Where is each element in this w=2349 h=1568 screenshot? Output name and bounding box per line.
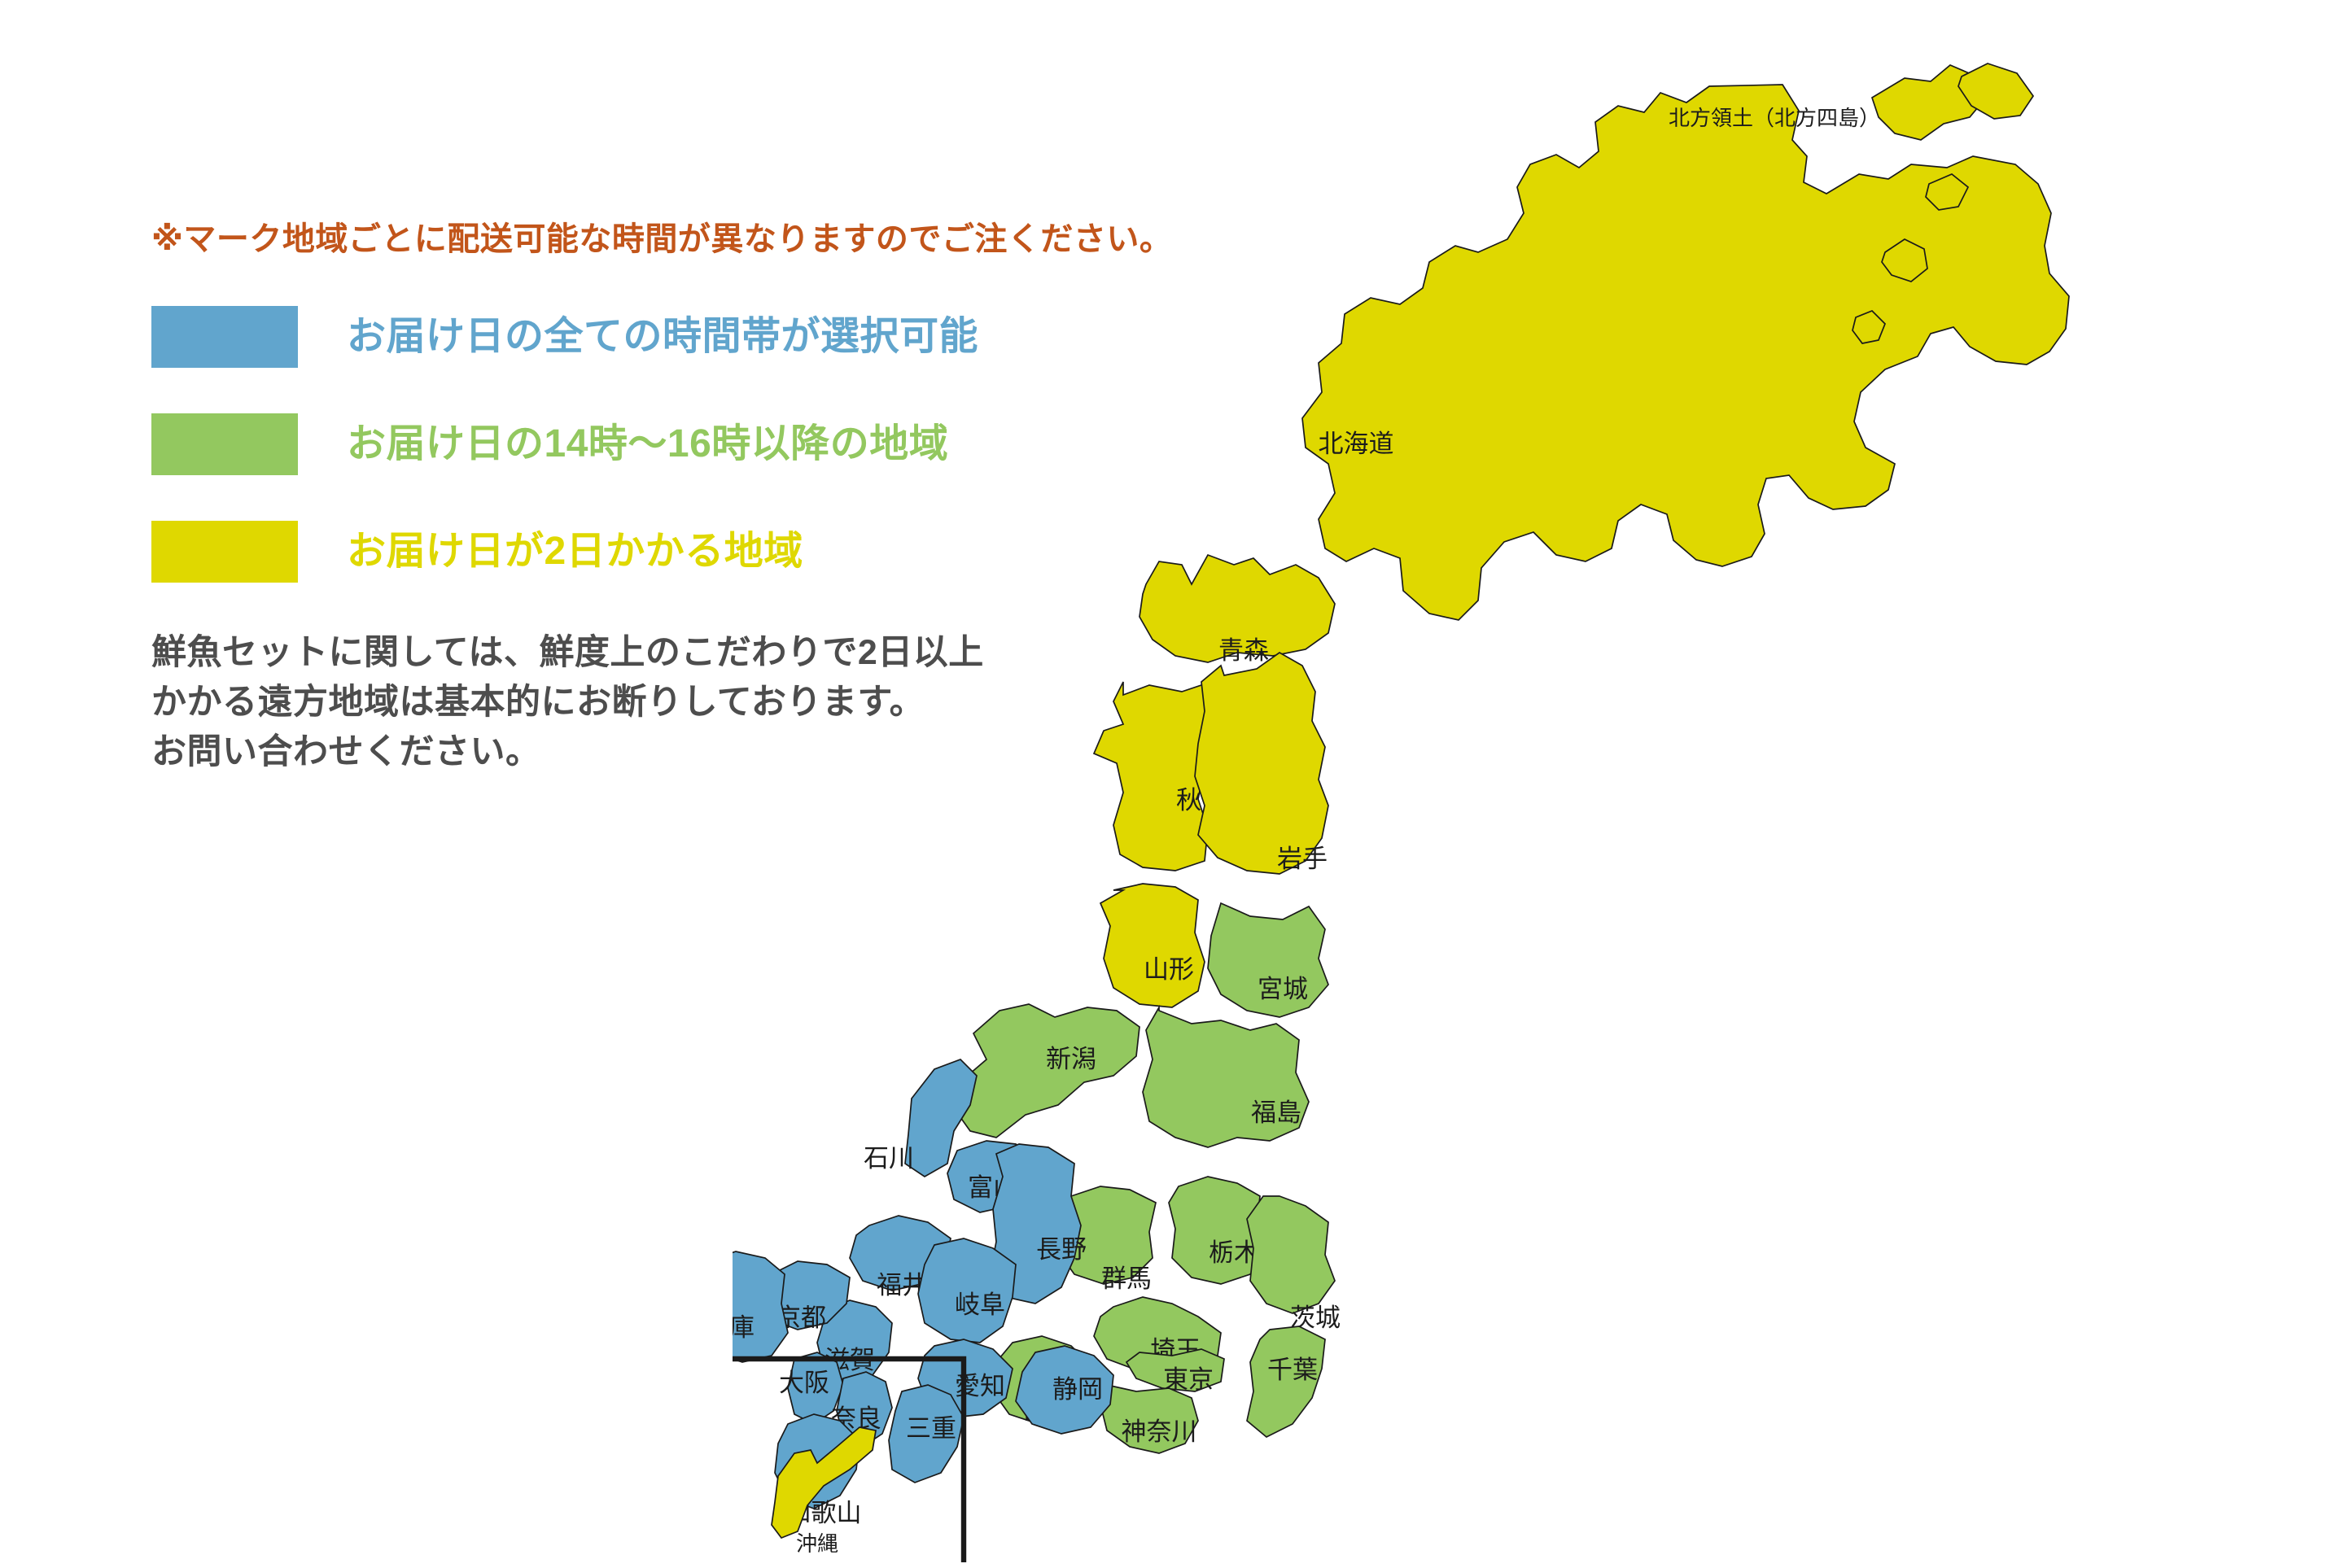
pref-label-miyagi: 宮城: [1258, 975, 1308, 1003]
pref-label-gifu: 岐阜: [955, 1291, 1005, 1319]
pref-label-iwate: 岩手: [1277, 845, 1328, 873]
legend-swatch-green: [151, 413, 298, 475]
japan-map: 北海道 北方領土（北方四島） 青森 秋田 岩手 山形 宮城 新潟 福島 栃木 群…: [733, 57, 2328, 1562]
pref-label-chiba: 千葉: [1267, 1356, 1318, 1384]
pref-label-mie: 三重: [906, 1414, 956, 1443]
pref-hokkaido[interactable]: [1302, 85, 2069, 620]
pref-label-okinawa: 沖縄: [796, 1531, 838, 1556]
legend-swatch-blue: [151, 306, 298, 368]
northern-territories-annotation: 北方領土（北方四島）: [1669, 106, 1880, 130]
pref-label-gunma: 群馬: [1101, 1264, 1152, 1293]
pref-label-hyogo: 兵庫: [733, 1313, 755, 1342]
pref-label-kanagawa: 神奈川: [1122, 1417, 1197, 1446]
pref-iwate[interactable]: [1195, 653, 1328, 874]
pref-yamagata[interactable]: [1100, 884, 1205, 1007]
pref-label-osaka: 大阪: [779, 1369, 829, 1397]
pref-label-fukushima: 福島: [1251, 1098, 1301, 1127]
pref-label-niigata: 新潟: [1046, 1045, 1096, 1073]
page-root: ※マーク地域ごとに配送可能な時間が異なりますのでご注ください。 お届け日の全ての…: [0, 0, 2349, 1568]
pref-label-shizuoka: 静岡: [1052, 1375, 1103, 1404]
pref-label-ishikawa: 石川: [864, 1144, 914, 1173]
japan-map-container: 北海道 北方領土（北方四島） 青森 秋田 岩手 山形 宮城 新潟 福島 栃木 群…: [733, 57, 2328, 1562]
pref-label-hokkaido: 北海道: [1319, 430, 1394, 458]
pref-label-nagano: 長野: [1036, 1235, 1087, 1264]
pref-label-aomori: 青森: [1218, 636, 1269, 665]
pref-hyogo[interactable]: [733, 1251, 788, 1362]
legend-swatch-yellow: [151, 521, 298, 583]
pref-label-yamagata: 山形: [1144, 955, 1194, 984]
pref-ibaraki[interactable]: [1247, 1196, 1335, 1313]
